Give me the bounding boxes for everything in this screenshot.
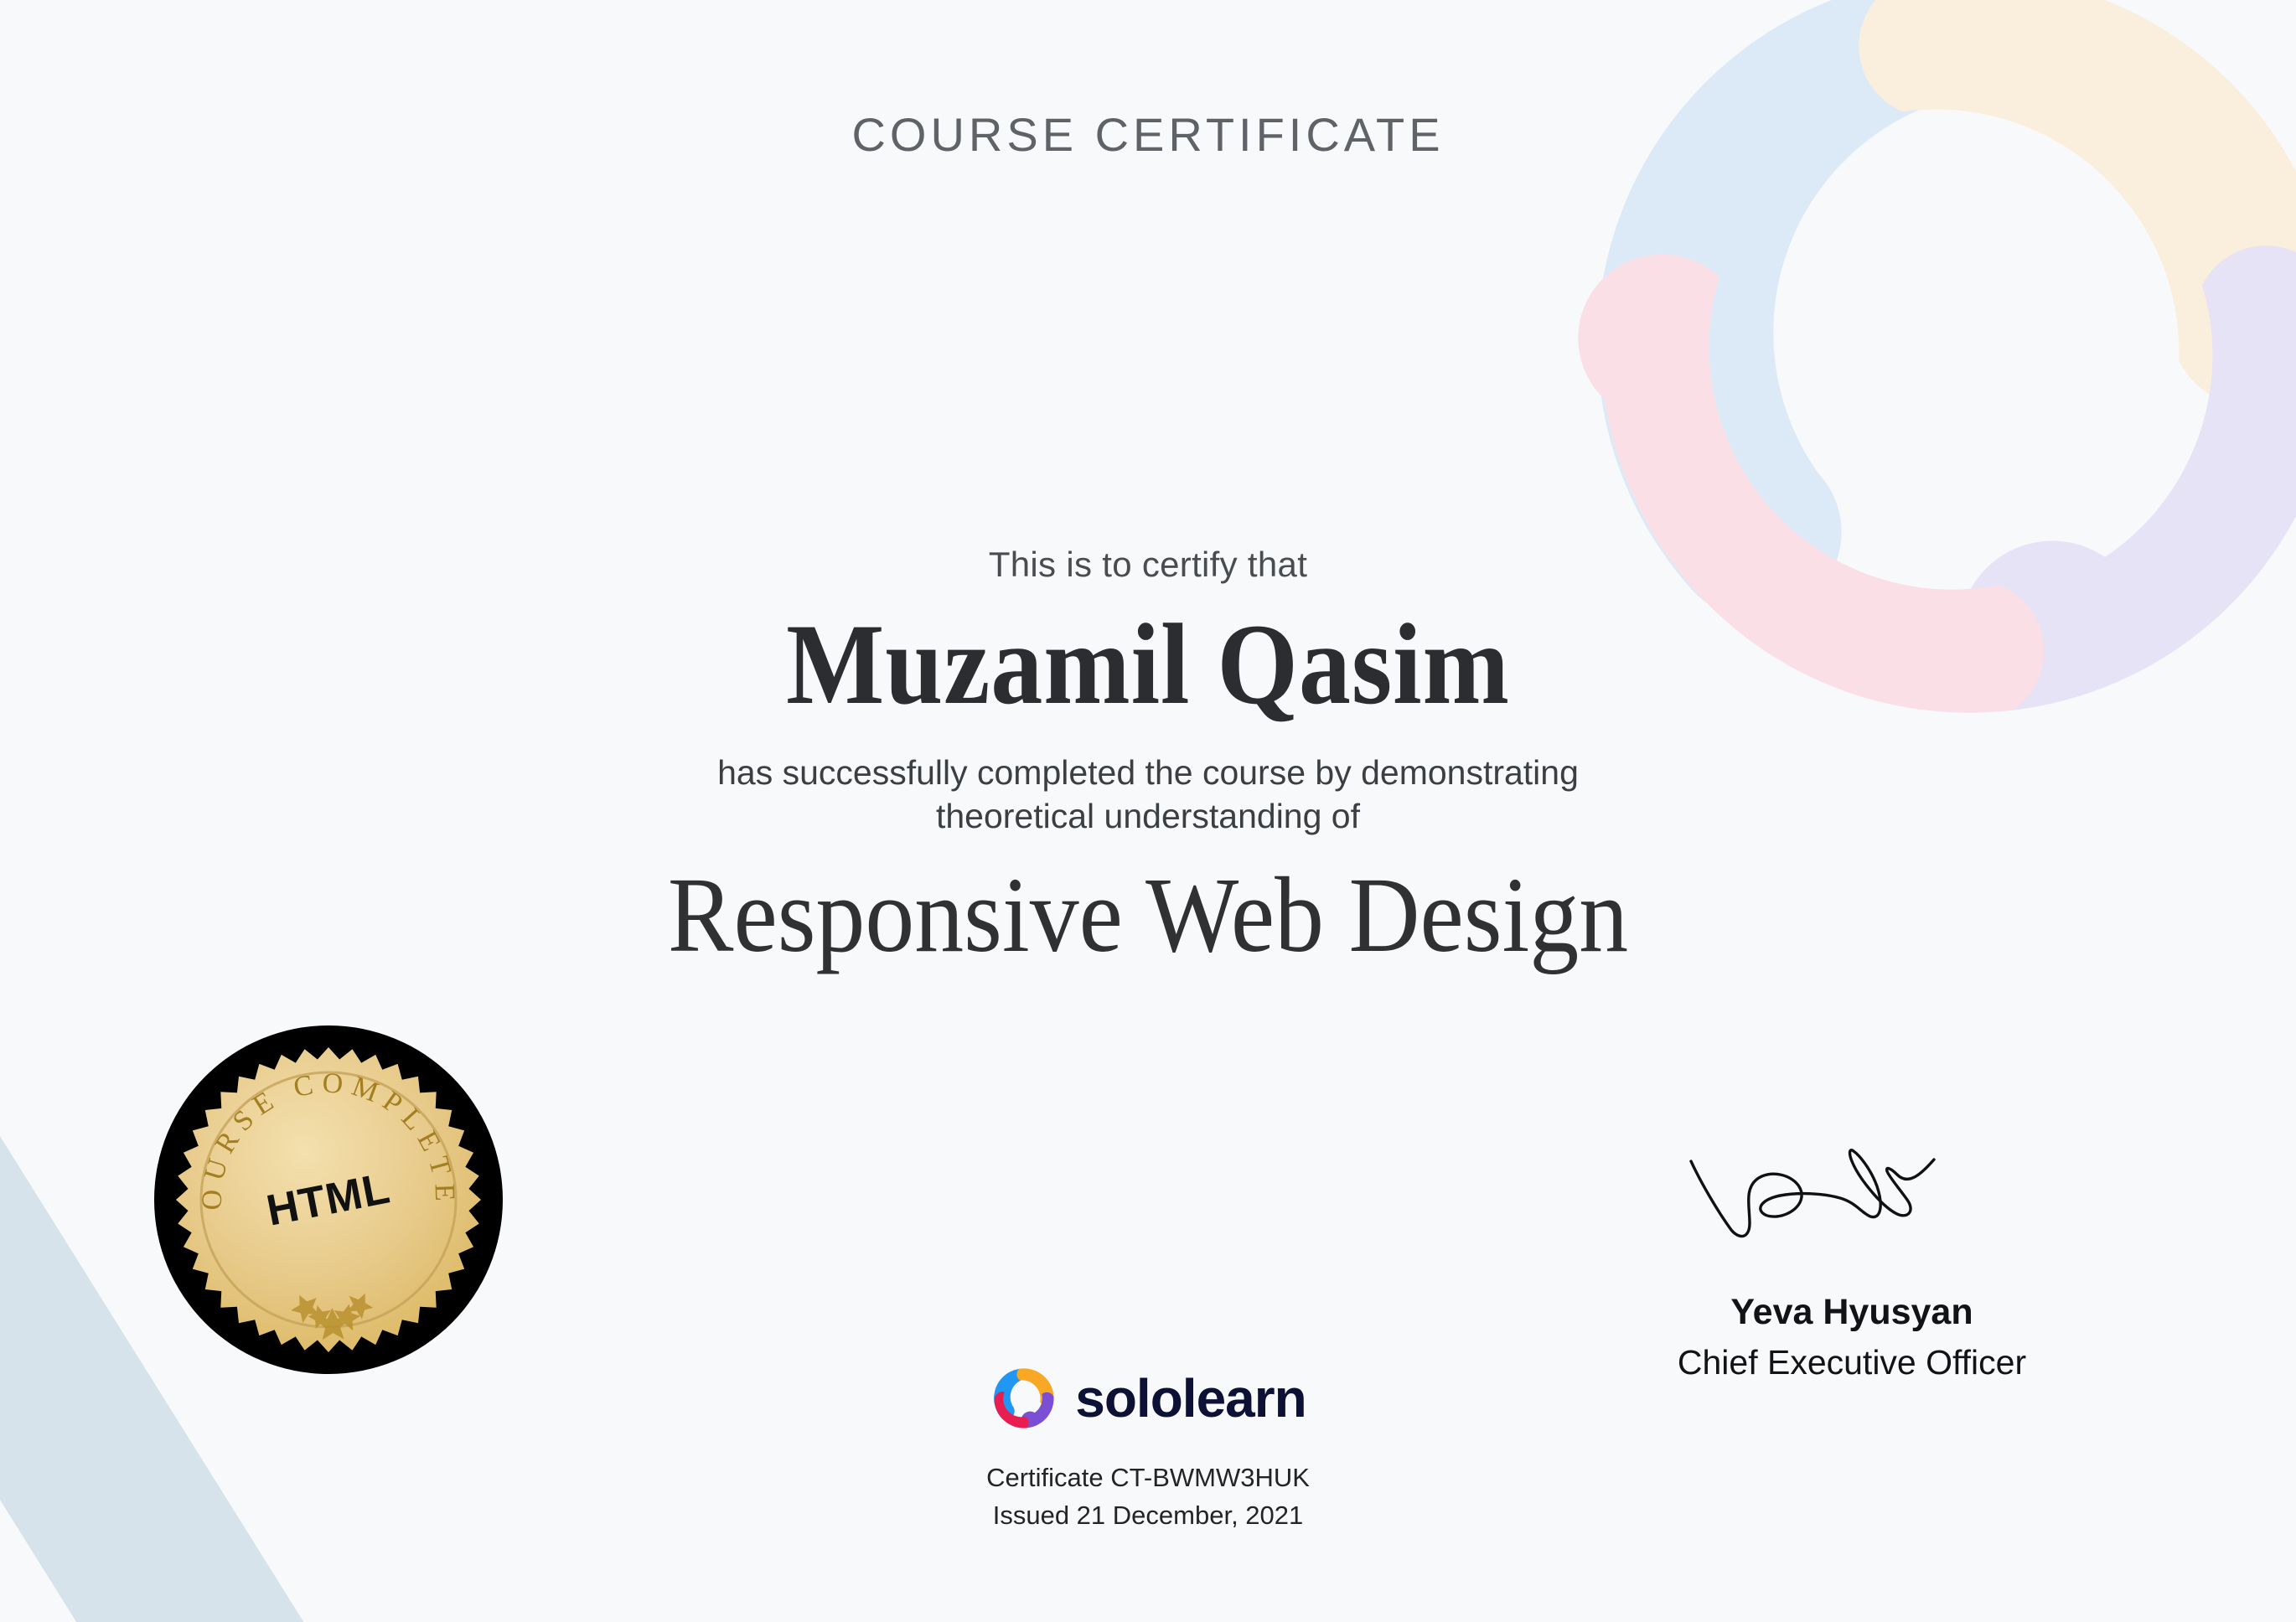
course-title: Responsive Web Design [92, 859, 2205, 971]
brand-logo-row: sololearn [838, 1364, 1458, 1433]
brand-wordmark: sololearn [1075, 1367, 1306, 1429]
completion-line-2: theoretical understanding of [0, 794, 2296, 838]
signature-mark [1617, 1139, 2087, 1257]
signer-title: Chief Executive Officer [1617, 1343, 2087, 1382]
certify-statement: This is to certify that [0, 545, 2296, 585]
certificate-header: COURSE CERTIFICATE [0, 107, 2296, 162]
certificate-id: Certificate CT-BWMW3HUK [838, 1459, 1458, 1497]
brand-footer: sololearn Certificate CT-BWMW3HUK Issued… [838, 1364, 1458, 1535]
recipient-name: Muzamil Qasim [115, 607, 2181, 722]
signature-stroke [1691, 1150, 1934, 1237]
certificate-body: This is to certify that Muzamil Qasim ha… [0, 545, 2296, 971]
swirl-arc-blue [1597, 0, 1986, 618]
certificate-canvas: COURSE CERTIFICATE This is to certify th… [0, 0, 2296, 1622]
completion-statement: has successfully completed the course by… [0, 751, 2296, 839]
completion-line-1: has successfully completed the course by… [0, 751, 2296, 794]
signer-name: Yeva Hyusyan [1617, 1292, 2087, 1333]
certificate-issue-date: Issued 21 December, 2021 [838, 1497, 1458, 1535]
course-completed-seal: COURSE COMPLETED HTML [153, 1024, 504, 1376]
swirl-arc-cream [1850, 0, 2296, 456]
sololearn-logo-icon [990, 1364, 1058, 1433]
certificate-meta: Certificate CT-BWMW3HUK Issued 21 Decemb… [838, 1459, 1458, 1535]
signature-block: Yeva Hyusyan Chief Executive Officer [1617, 1139, 2087, 1382]
page-title: COURSE CERTIFICATE [0, 107, 2296, 162]
